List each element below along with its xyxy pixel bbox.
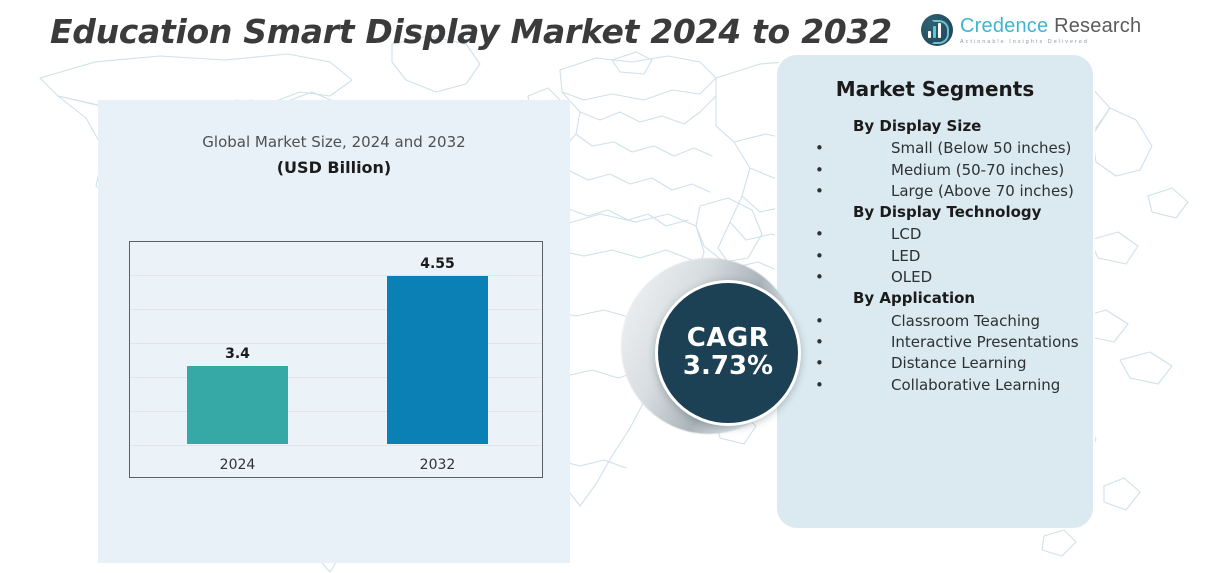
market-segments-title: Market Segments [791, 77, 1079, 101]
segment-item-label: Large (Above 70 inches) [891, 182, 1074, 200]
market-segments-panel: Market Segments By Display Size •Small (… [775, 53, 1095, 530]
page-title: Education Smart Display Market 2024 to 2… [50, 12, 892, 51]
segment-item-small[interactable]: •Small (Below 50 inches) [791, 138, 1079, 159]
logo-tagline: Actionable Insights Delivered [960, 40, 1141, 45]
segment-item-classroom-teaching[interactable]: •Classroom Teaching [791, 311, 1079, 332]
segment-item-large[interactable]: •Large (Above 70 inches) [791, 181, 1079, 202]
bullet-icon: • [853, 224, 891, 245]
logo-wordmark: Credence Research [960, 16, 1141, 36]
bullet-icon: • [853, 138, 891, 159]
bar-column-2032 [387, 276, 488, 444]
cagr-badge: CAGR 3.73% [621, 258, 803, 440]
segment-group-heading-display-technology: By Display Technology [853, 202, 1079, 223]
bar-chart-circle-icon [921, 14, 953, 46]
segment-item-distance-learning[interactable]: •Distance Learning [791, 353, 1079, 374]
bar-column-2024 [187, 366, 288, 444]
segment-item-label: Small (Below 50 inches) [891, 139, 1071, 157]
bar-value-label-2024: 3.4 [187, 346, 288, 362]
bar-2032[interactable]: 4.55 2032 [387, 272, 488, 444]
segment-group-heading-display-size: By Display Size [853, 116, 1079, 137]
segment-item-led[interactable]: •LED [791, 246, 1079, 267]
cagr-circle: CAGR 3.73% [655, 280, 801, 426]
segment-item-label: LCD [891, 225, 921, 243]
bar-2024[interactable]: 3.4 2024 [187, 272, 288, 444]
bullet-icon: • [853, 246, 891, 267]
segment-item-interactive-presentations[interactable]: •Interactive Presentations [791, 332, 1079, 353]
segment-item-label: Distance Learning [891, 354, 1026, 372]
segment-list-display-technology: •LCD •LED •OLED [791, 224, 1079, 288]
chart-plot-area: 3.4 2024 4.55 2032 [130, 242, 542, 477]
segment-item-label: Interactive Presentations [891, 333, 1079, 351]
brand-logo[interactable]: Credence Research Actionable Insights De… [921, 14, 1141, 46]
segment-item-label: Classroom Teaching [891, 312, 1040, 330]
segment-item-label: OLED [891, 268, 932, 286]
bullet-icon: • [853, 353, 891, 374]
cagr-value: 3.73% [683, 352, 773, 381]
segment-item-lcd[interactable]: •LCD [791, 224, 1079, 245]
bullet-icon: • [853, 160, 891, 181]
logo-name-primary: Credence [960, 15, 1048, 37]
infographic-canvas: Education Smart Display Market 2024 to 2… [0, 0, 1216, 573]
cagr-label: CAGR [687, 325, 770, 352]
logo-name-secondary: Research [1054, 15, 1141, 37]
bar-chart: 3.4 2024 4.55 2032 [129, 241, 543, 478]
bar-category-label-2032: 2032 [387, 457, 488, 473]
segment-group-heading-application: By Application [853, 288, 1079, 309]
bar-category-label-2024: 2024 [187, 457, 288, 473]
bar-value-label-2032: 4.55 [387, 256, 488, 272]
segment-list-application: •Classroom Teaching •Interactive Present… [791, 311, 1079, 396]
segment-list-display-size: •Small (Below 50 inches) •Medium (50-70 … [791, 138, 1079, 202]
bullet-icon: • [853, 181, 891, 202]
segment-item-label: LED [891, 247, 920, 265]
segment-item-label: Collaborative Learning [891, 376, 1060, 394]
bullet-icon: • [853, 332, 891, 353]
bullet-icon: • [853, 375, 891, 396]
segment-item-medium[interactable]: •Medium (50-70 inches) [791, 160, 1079, 181]
bullet-icon: • [853, 311, 891, 332]
chart-subtitle: (USD Billion) [98, 158, 570, 177]
bullet-icon: • [853, 267, 891, 288]
segment-item-collaborative-learning[interactable]: •Collaborative Learning [791, 375, 1079, 396]
segment-item-oled[interactable]: •OLED [791, 267, 1079, 288]
segment-item-label: Medium (50-70 inches) [891, 161, 1064, 179]
logo-bars-shape [928, 23, 941, 38]
logo-text-block: Credence Research Actionable Insights De… [960, 14, 1141, 45]
chart-title: Global Market Size, 2024 and 2032 [98, 133, 570, 151]
